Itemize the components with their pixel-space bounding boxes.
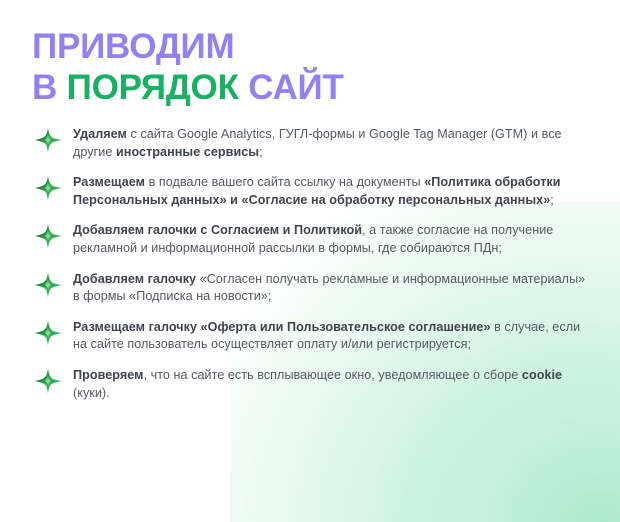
title-word-1-1: ПРИВОДИМ — [32, 27, 234, 66]
green-four-point-star-icon — [34, 223, 62, 249]
list-item: Размещаем в подвале вашего сайта ссылку … — [0, 174, 620, 209]
list-item-5-segment-1: Размещаем галочку «Оферта или Пользовате… — [73, 320, 491, 334]
list-item-2-segment-2: в подвале вашего сайта ссылку на докумен… — [145, 175, 424, 189]
list-item: Проверяем, что на сайте есть всплывающее… — [0, 367, 620, 402]
list-item-6-segment-1: Проверяем — [73, 368, 144, 382]
list-item-text: Размещаем в подвале вашего сайта ссылку … — [73, 174, 594, 209]
list-item-text: Добавляем галочки с Согласием и Политико… — [73, 222, 594, 257]
title-word-2-2: ПОРЯДОК — [67, 68, 249, 107]
list-item-text: Проверяем, что на сайте есть всплывающее… — [73, 367, 594, 402]
green-four-point-star-icon — [34, 368, 62, 394]
list-item: Добавляем галочку «Согласен получать рек… — [0, 271, 620, 306]
list-item-3-segment-1: Добавляем галочки с Согласием и Политико… — [73, 223, 362, 237]
slide-root: ПРИВОДИМ В ПОРЯДОК САЙТ Удаляем с сайта … — [0, 0, 620, 522]
title-line-1: ПРИВОДИМ — [32, 26, 620, 67]
page-title: ПРИВОДИМ В ПОРЯДОК САЙТ — [0, 0, 620, 108]
list-item: Размещаем галочку «Оферта или Пользовате… — [0, 319, 620, 354]
list-item-text: Удаляем с сайта Google Analytics, ГУГЛ-ф… — [73, 126, 594, 161]
list-item-1-segment-1: Удаляем — [73, 127, 127, 141]
list-item-text: Размещаем галочку «Оферта или Пользовате… — [73, 319, 594, 354]
list-item-text: Добавляем галочку «Согласен получать рек… — [73, 271, 594, 306]
list-item-6-segment-3: cookie — [522, 368, 562, 382]
green-four-point-star-icon — [34, 175, 62, 201]
slide-content: ПРИВОДИМ В ПОРЯДОК САЙТ Удаляем с сайта … — [0, 0, 620, 402]
title-line-2: В ПОРЯДОК САЙТ — [32, 67, 620, 108]
green-four-point-star-icon — [34, 272, 62, 298]
list-item-6-segment-4: (куки). — [73, 386, 110, 400]
title-word-2-3: САЙТ — [248, 68, 343, 107]
list-item: Добавляем галочки с Согласием и Политико… — [0, 222, 620, 257]
list-item: Удаляем с сайта Google Analytics, ГУГЛ-ф… — [0, 126, 620, 161]
green-four-point-star-icon — [34, 320, 62, 346]
list-item-2-segment-4: ; — [550, 193, 554, 207]
list-item-6-segment-2: , что на сайте есть всплывающее окно, ув… — [144, 368, 522, 382]
list-item-1-segment-3: иностранные сервисы — [116, 145, 259, 159]
list-item-2-segment-1: Размещаем — [73, 175, 145, 189]
checklist: Удаляем с сайта Google Analytics, ГУГЛ-ф… — [0, 108, 620, 402]
green-four-point-star-icon — [34, 127, 62, 153]
list-item-4-segment-1: Добавляем галочку — [73, 272, 196, 286]
list-item-1-segment-4: ; — [259, 145, 263, 159]
title-word-2-1: В — [32, 68, 67, 107]
